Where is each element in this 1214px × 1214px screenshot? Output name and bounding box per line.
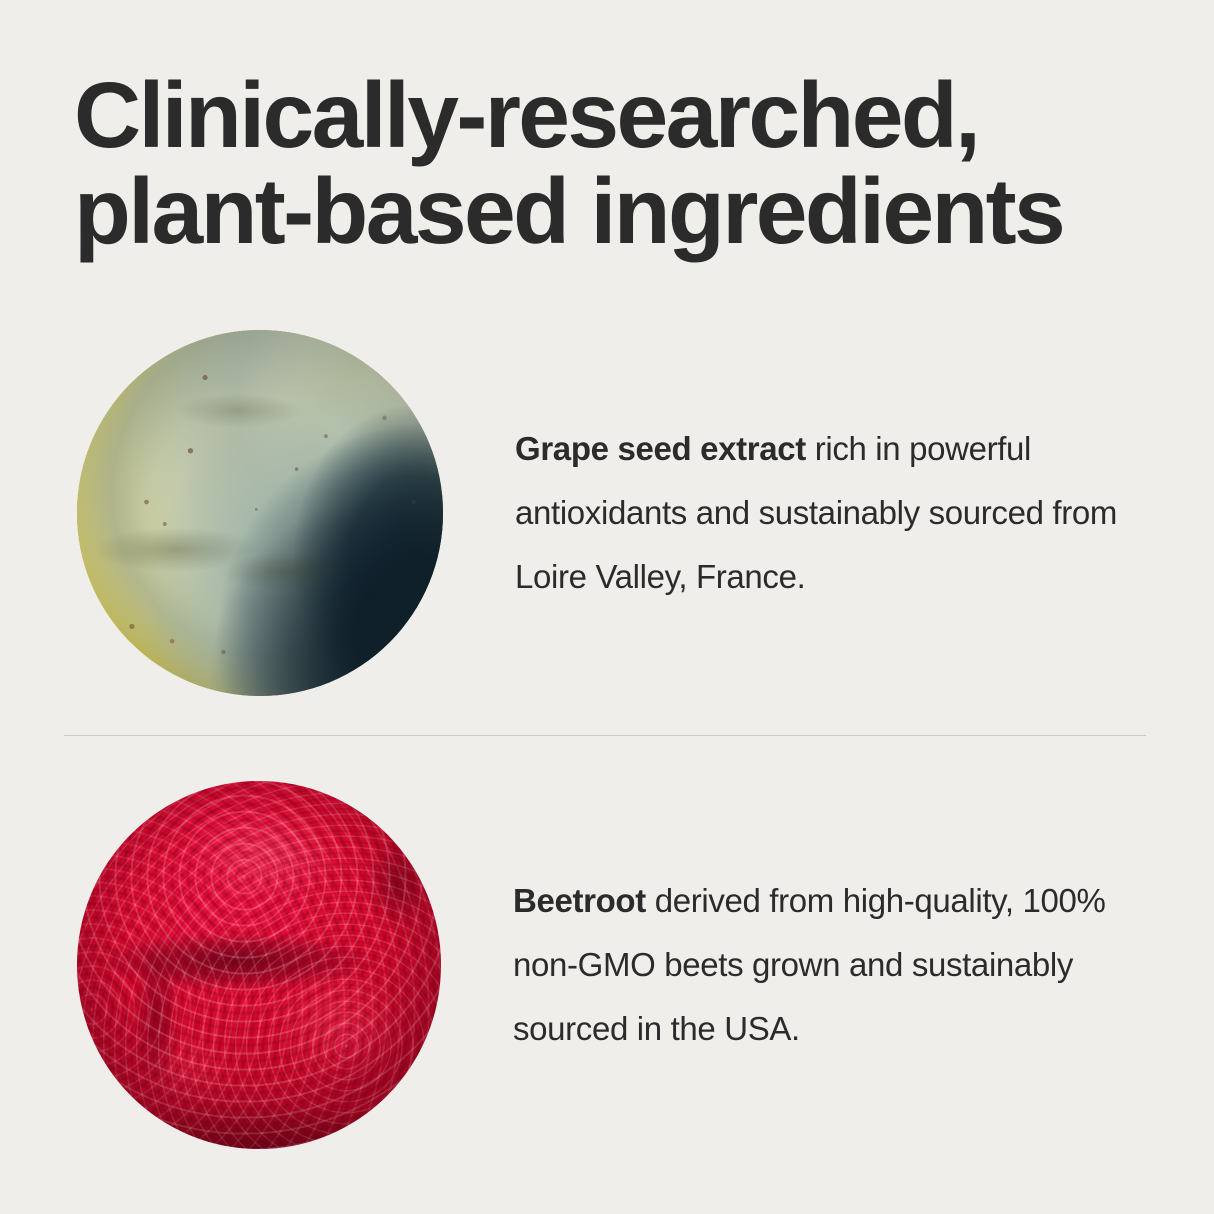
ingredients-panel: Clinically-researched, plant-based ingre… (0, 0, 1214, 1214)
ingredient-row-grape-seed-extract: Grape seed extract rich in powerful anti… (0, 330, 1214, 696)
grape-photo-speckles (77, 330, 443, 696)
beetroot-photo-shading (77, 781, 441, 1149)
section-divider (64, 735, 1146, 736)
ingredient-description-grape-seed-extract: Grape seed extract rich in powerful anti… (515, 417, 1214, 608)
ingredient-row-beetroot: Beetroot derived from high-quality, 100%… (0, 781, 1214, 1149)
ingredient-description-beetroot: Beetroot derived from high-quality, 100%… (513, 869, 1214, 1060)
ingredient-lead-beetroot: Beetroot (513, 882, 646, 919)
grape-cluster-photo (77, 330, 443, 696)
beetroot-slices-photo (77, 781, 441, 1149)
ingredient-lead-grape-seed-extract: Grape seed extract (515, 430, 806, 467)
page-title: Clinically-researched, plant-based ingre… (74, 68, 1164, 260)
